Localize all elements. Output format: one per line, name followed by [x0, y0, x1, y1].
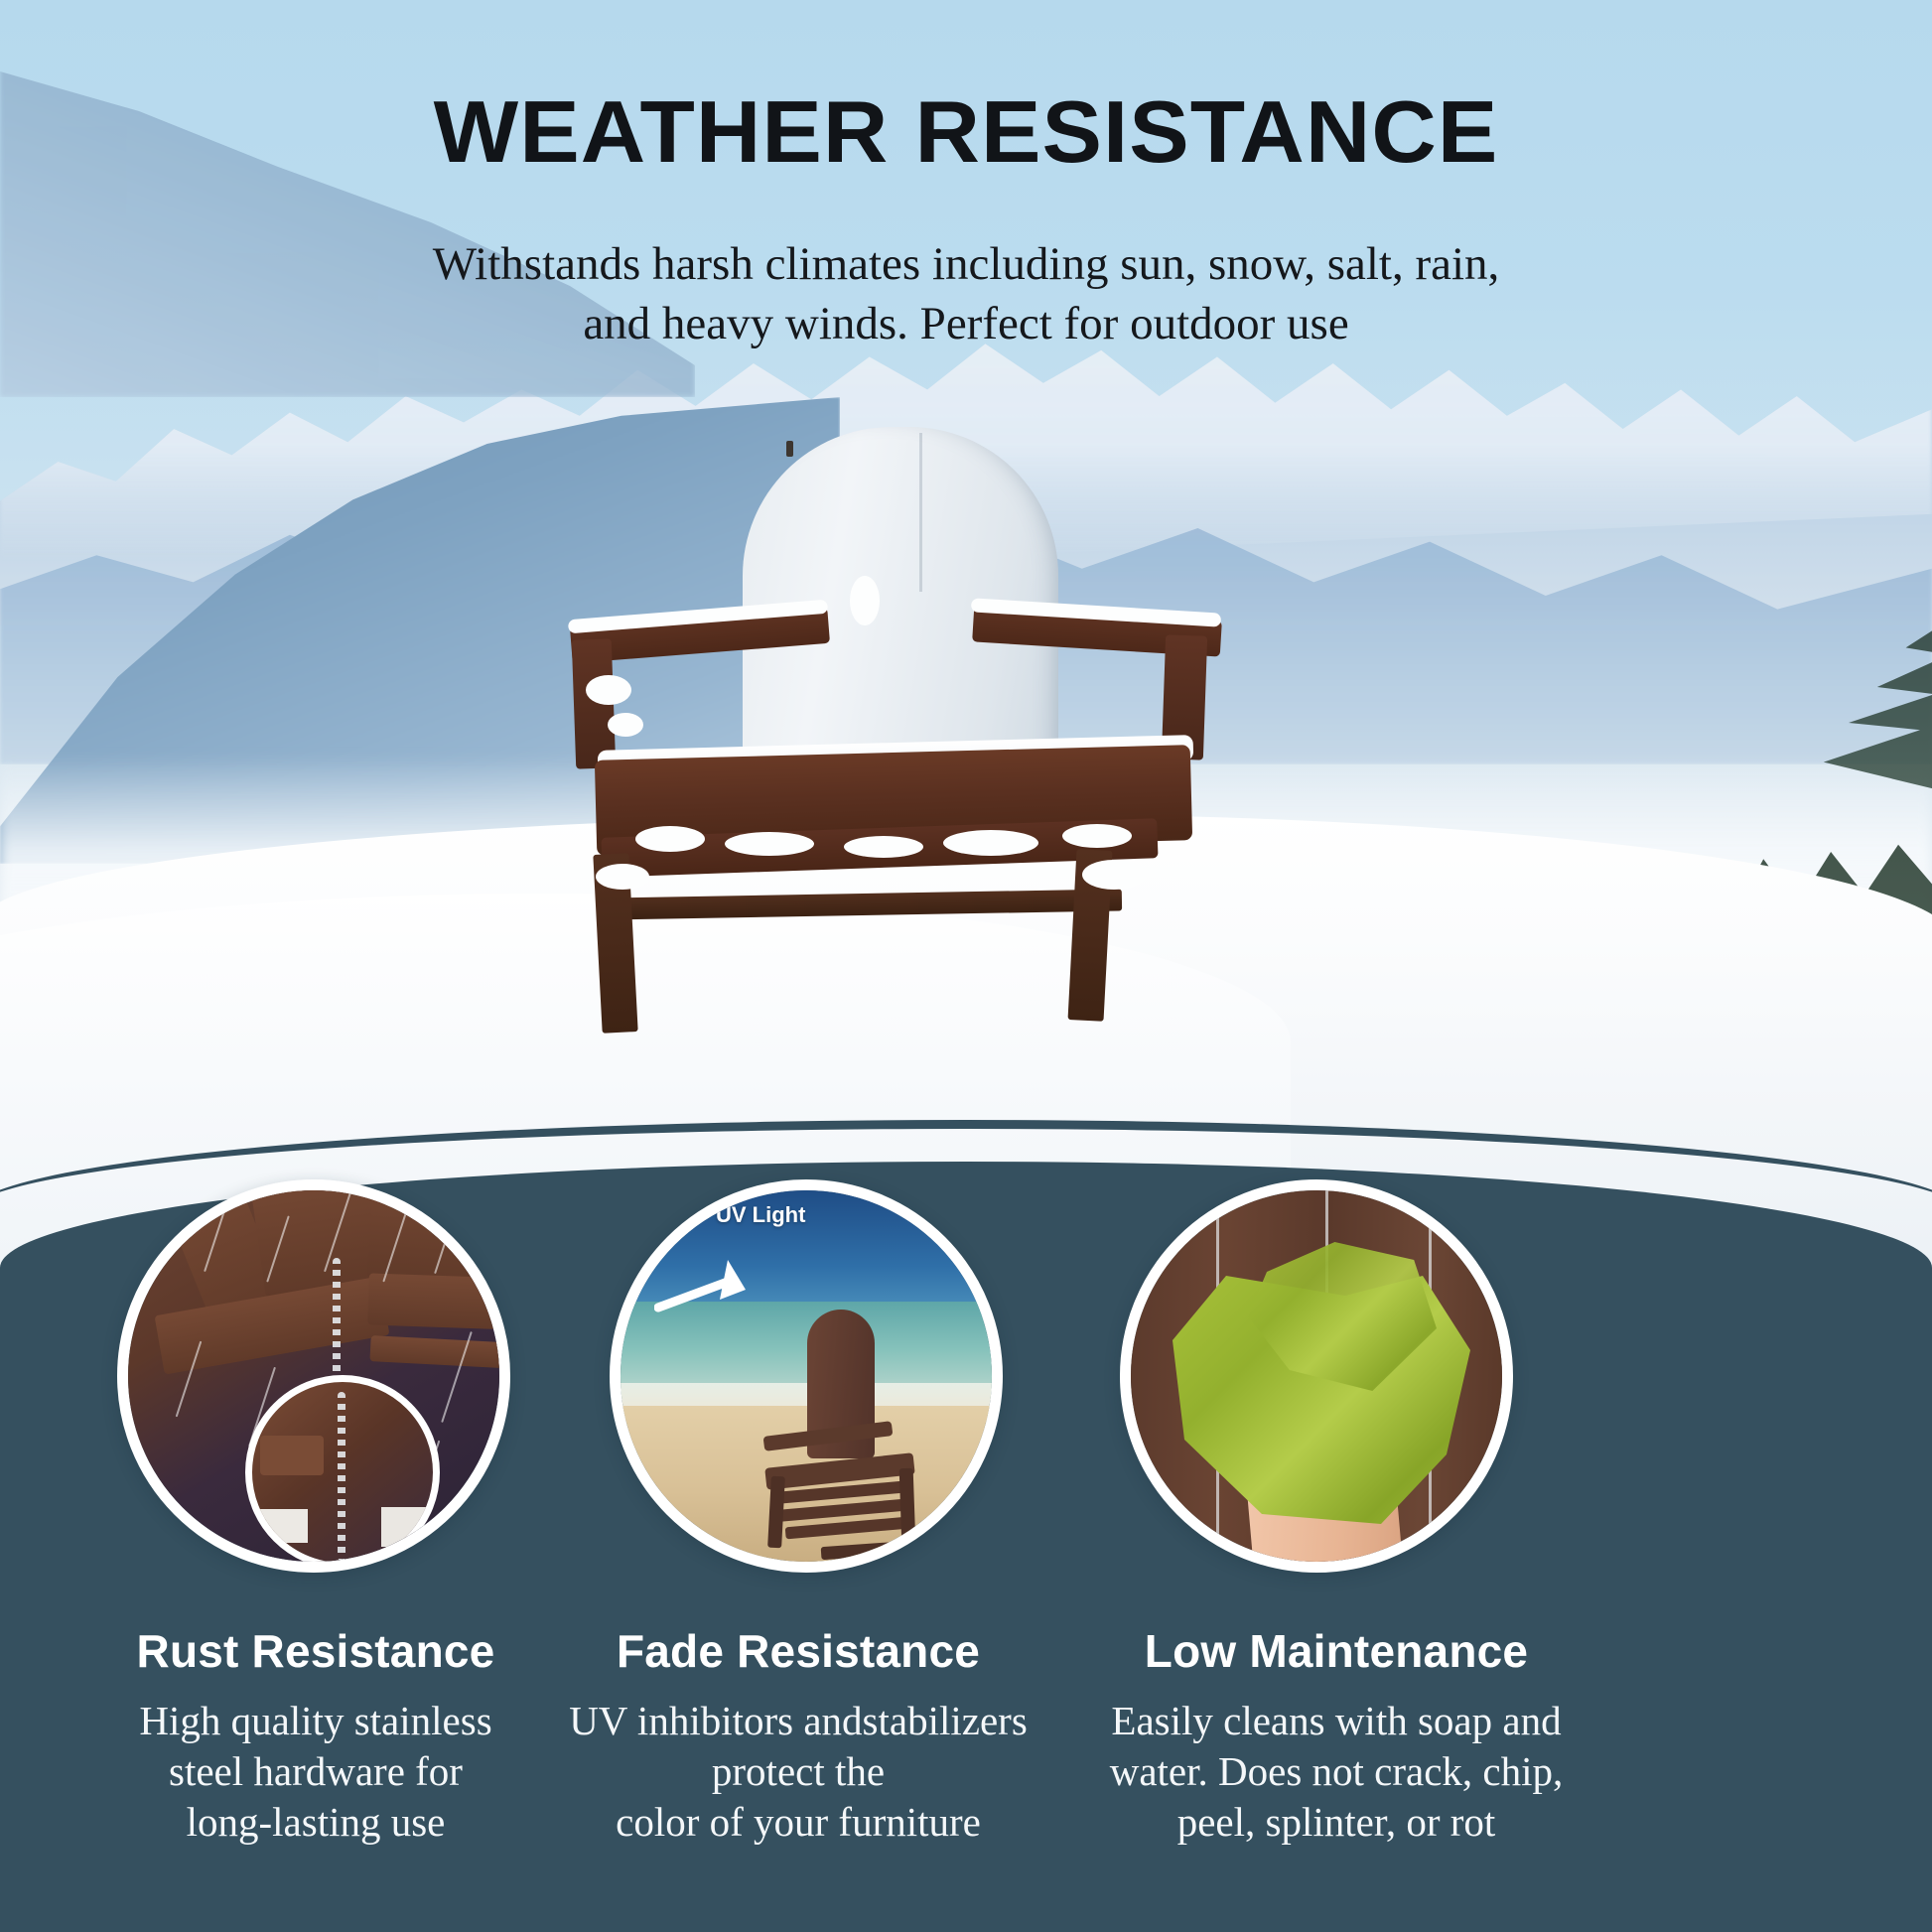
snow-patch [943, 830, 1038, 856]
feature-description: UV inhibitors andstabilizers protect the… [520, 1696, 1076, 1847]
feature-description-line-2: steel hardware for [38, 1746, 594, 1797]
feature-block-rust-resistance: Rust Resistance High quality stainless s… [38, 1624, 594, 1847]
feature-block-low-maintenance: Low Maintenance Easily cleans with soap … [1019, 1624, 1654, 1847]
snow-patch [635, 826, 705, 852]
rain-on-hardware-photo [128, 1190, 499, 1562]
feature-heading: Low Maintenance [1019, 1624, 1654, 1678]
feature-image-low-maintenance [1120, 1179, 1513, 1573]
feature-description: High quality stainless steel hardware fo… [38, 1696, 594, 1847]
feature-description: Easily cleans with soap and water. Does … [1019, 1696, 1654, 1847]
feature-description-line-3: peel, splinter, or rot [1019, 1797, 1654, 1848]
feature-description-line-3: color of your furniture [520, 1797, 1076, 1848]
subtitle-line-1: Withstands harsh climates including sun,… [0, 234, 1932, 294]
subtitle-line-2: and heavy winds. Perfect for outdoor use [0, 294, 1932, 353]
feature-description-line-3: long-lasting use [38, 1797, 594, 1848]
feature-heading: Rust Resistance [38, 1624, 594, 1678]
feature-image-fade-resistance: UV Light [610, 1179, 1003, 1573]
feature-description-line-1: UV inhibitors andstabilizers [520, 1696, 1076, 1746]
uv-light-label: UV Light [716, 1202, 805, 1228]
feature-block-fade-resistance: Fade Resistance UV inhibitors andstabili… [520, 1624, 1076, 1847]
chair-stretcher [606, 889, 1122, 919]
snow-patch [586, 675, 631, 705]
snow-patch [850, 576, 880, 625]
page-subtitle: Withstands harsh climates including sun,… [0, 234, 1932, 353]
beach-chair-icon [759, 1310, 948, 1558]
beach-chair-uv-photo: UV Light [621, 1190, 992, 1562]
feature-heading: Fade Resistance [520, 1624, 1076, 1678]
hardware-chain-closeup [245, 1375, 440, 1570]
hand-cleaning-cloth-photo [1131, 1190, 1502, 1562]
snow-patch [725, 832, 814, 856]
snow-covered-chair-icon [616, 427, 1231, 1082]
feature-description-line-1: High quality stainless [38, 1696, 594, 1746]
page-title: WEATHER RESISTANCE [0, 81, 1932, 183]
uv-arrow-icon [654, 1242, 773, 1327]
feature-description-line-2: protect the [520, 1746, 1076, 1797]
feature-description-line-2: water. Does not crack, chip, [1019, 1746, 1654, 1797]
feature-image-rust-resistance [117, 1179, 510, 1573]
infographic-page: WEATHER RESISTANCE Withstands harsh clim… [0, 0, 1932, 1932]
snow-patch [1082, 860, 1146, 890]
chair-nail [786, 441, 793, 457]
snow-patch [596, 864, 649, 890]
snow-patch [1062, 824, 1132, 848]
hero-scene [0, 0, 1932, 1301]
snow-patch [844, 836, 923, 858]
snow-patch [608, 713, 643, 737]
feature-description-line-1: Easily cleans with soap and [1019, 1696, 1654, 1746]
